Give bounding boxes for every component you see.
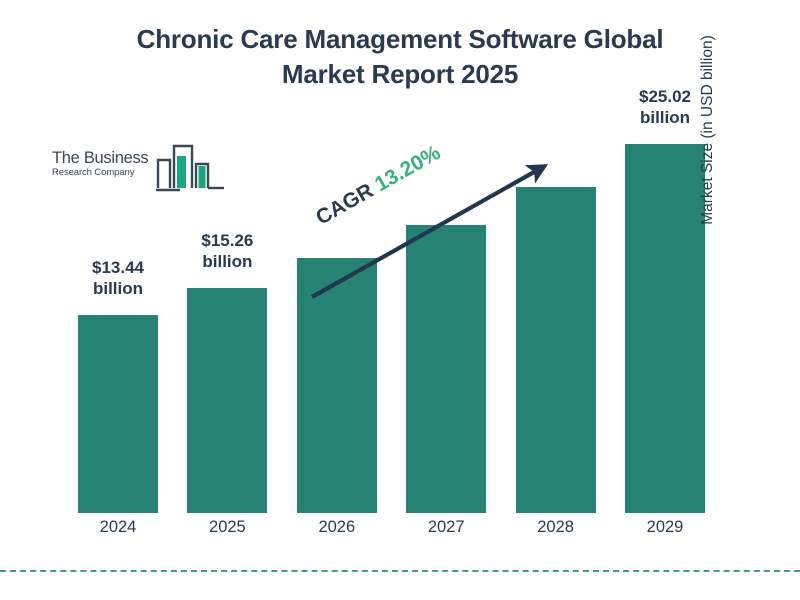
bar-value-amount: $15.26 bbox=[167, 230, 287, 251]
footer-divider bbox=[0, 570, 800, 572]
bar-2025[interactable] bbox=[187, 288, 267, 513]
x-axis-tick-2026: 2026 bbox=[277, 518, 397, 537]
bar-2027[interactable] bbox=[406, 225, 486, 513]
bar-2024[interactable] bbox=[78, 315, 158, 513]
x-axis-tick-2024: 2024 bbox=[58, 518, 178, 537]
bar-2026[interactable] bbox=[297, 258, 377, 513]
chart-canvas: Chronic Care Management Software Global … bbox=[0, 0, 800, 600]
bar-value-label-2024: $13.44billion bbox=[58, 257, 178, 300]
x-axis-tick-2027: 2027 bbox=[386, 518, 506, 537]
bar-value-unit: billion bbox=[58, 278, 178, 299]
y-axis-title: Market Size (in USD billion) bbox=[699, 5, 717, 255]
bar-2029[interactable] bbox=[625, 144, 705, 513]
plot-area: $13.44billion2024$15.26billion2025202620… bbox=[0, 0, 800, 600]
x-axis-tick-2028: 2028 bbox=[496, 518, 616, 537]
bar-value-amount: $13.44 bbox=[58, 257, 178, 278]
x-axis-tick-2029: 2029 bbox=[605, 518, 725, 537]
bar-value-label-2025: $15.26billion bbox=[167, 230, 287, 273]
bar-2028[interactable] bbox=[516, 187, 596, 513]
bar-value-unit: billion bbox=[167, 251, 287, 272]
x-axis-tick-2025: 2025 bbox=[167, 518, 287, 537]
